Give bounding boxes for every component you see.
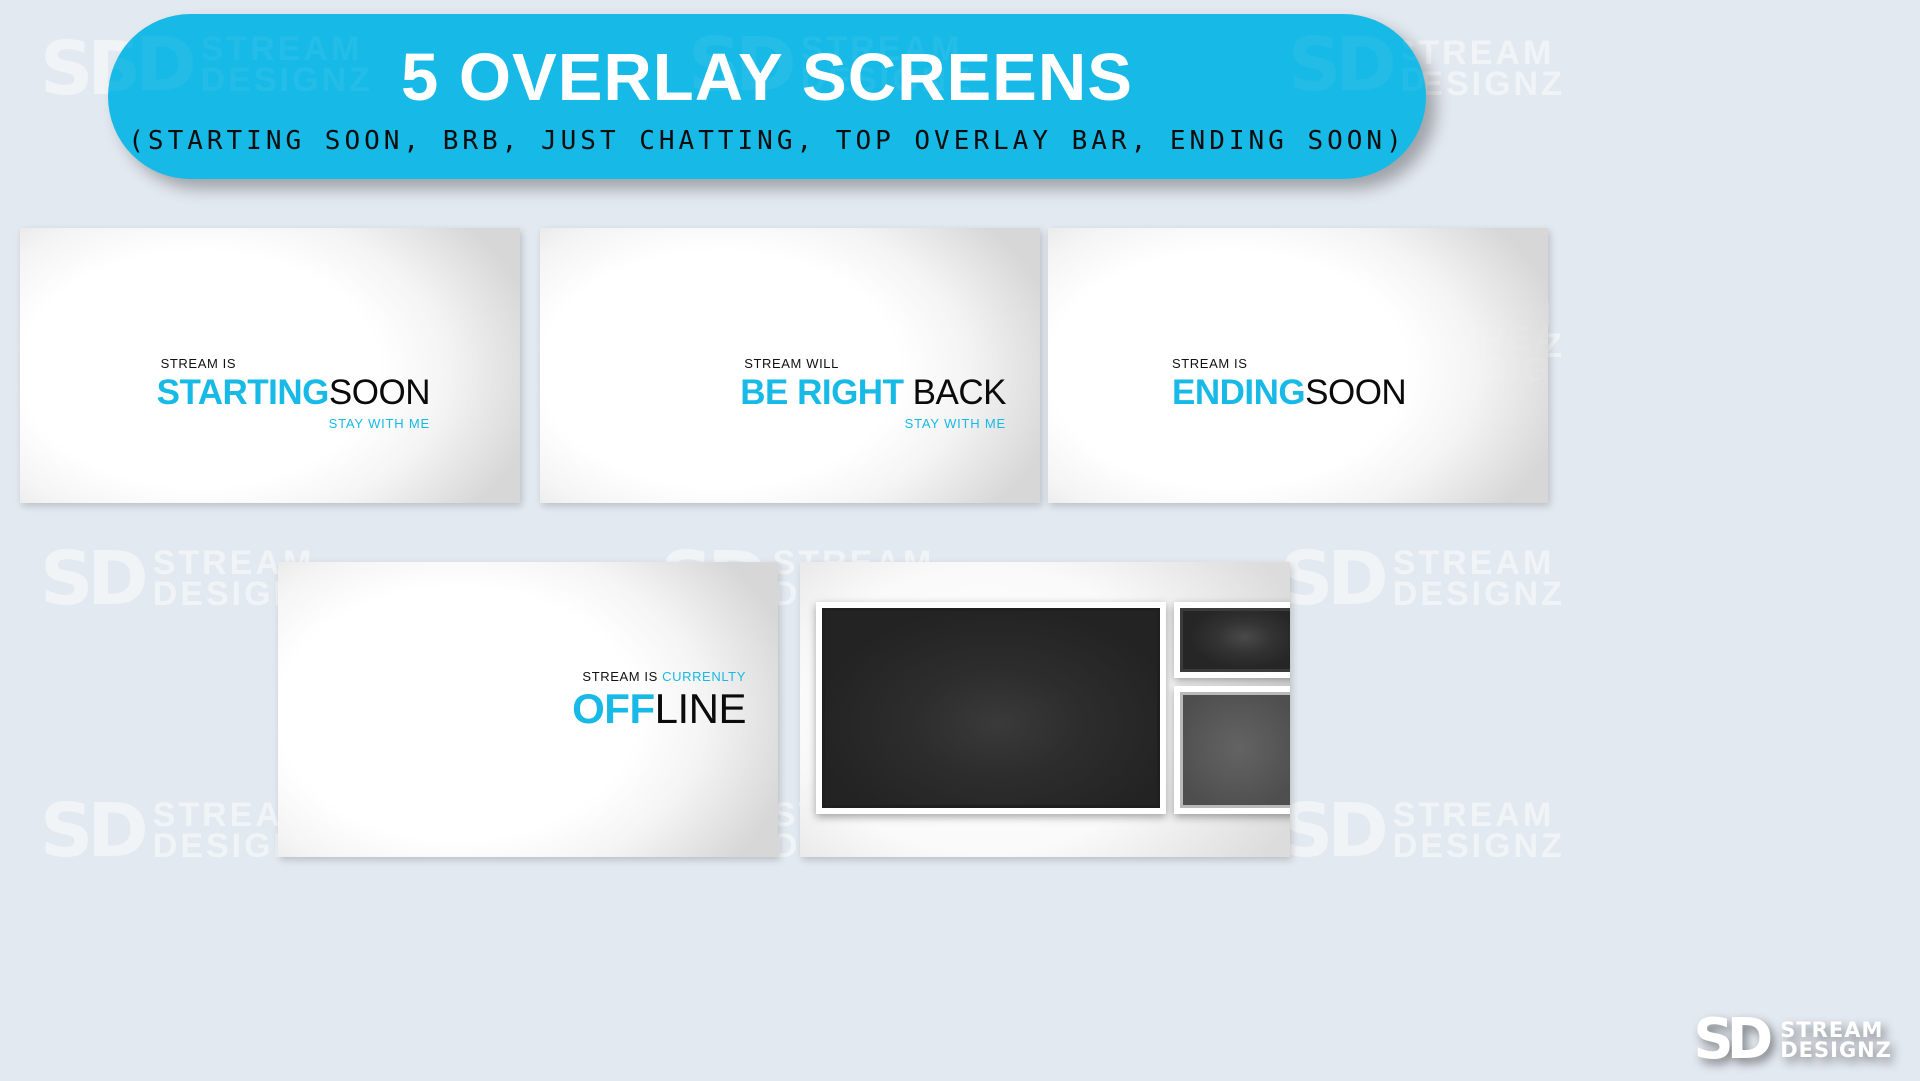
card-headline-accent: OFF: [572, 685, 654, 732]
watermark-line1: STREAM: [1393, 800, 1565, 831]
watermark: SD STREAM DESIGNZ: [1280, 800, 1565, 863]
card-headline-accent: BE RIGHT: [740, 373, 903, 412]
brand-logo: SD STREAM DESIGNZ: [1693, 1018, 1892, 1063]
card-eyebrow-accent: CURRENLTY: [662, 669, 746, 684]
overlay-card-starting-soon[interactable]: SD STREAM DESIGNZ STREAM IS STARTINGSOON…: [20, 228, 520, 503]
overlay-card-offline[interactable]: SD STREAM DESIGNZ STREAM IS CURRENLTY OF…: [278, 562, 778, 857]
card-headline-plain: SOON: [1305, 373, 1406, 412]
watermark-line2: DESIGNZ: [1393, 579, 1565, 610]
brand-line2: DESIGNZ: [1780, 1041, 1892, 1061]
card-headline-plain: BACK: [903, 373, 1006, 412]
card-text-block: STREAM IS STARTINGSOON STAY WITH ME: [157, 357, 430, 430]
overlay-card-top-overlay-bar[interactable]: SD STREAM DESIGNZ: [800, 562, 1290, 857]
card-eyebrow: STREAM WILL: [740, 357, 1006, 370]
watermark-sd-mark: SD: [278, 672, 331, 735]
watermark-sd-mark: SD: [40, 548, 143, 611]
watermark-sd-mark: SD: [1280, 548, 1383, 611]
card-headline: ENDINGSOON: [1172, 375, 1406, 410]
banner-title: 5 OVERLAY SCREENS: [108, 39, 1426, 116]
brand-wordmark: STREAM DESIGNZ: [1780, 1021, 1892, 1061]
card-headline: STARTINGSOON: [157, 375, 430, 410]
card-headline: OFFLINE: [572, 688, 746, 730]
header-banner-body: SD STREAM DESIGNZ SD STREAM DESIGNZ SD S…: [108, 14, 1426, 179]
watermark-line2: DESIGNZ: [341, 703, 513, 734]
watermark-line2: DESIGNZ: [1431, 355, 1548, 386]
card-tagline: STAY WITH ME: [157, 417, 430, 430]
card-headline-accent: STARTING: [157, 373, 329, 412]
watermark-sd-mark: SD: [40, 800, 143, 863]
main-screen-panel[interactable]: [816, 602, 1166, 814]
card-headline-plain: LINE: [655, 685, 746, 732]
watermark: SD STREAM DESIGNZ: [1280, 548, 1565, 611]
main-screen-surface: [822, 608, 1160, 808]
card-eyebrow: STREAM IS: [1172, 357, 1406, 370]
watermark-sd-mark: SD: [1280, 800, 1383, 863]
watermark-sd-mark: SD: [38, 324, 141, 387]
card-headline: BE RIGHT BACK: [740, 375, 1006, 410]
card-eyebrow: STREAM IS: [157, 357, 430, 370]
watermark-line1: STREAM: [1393, 548, 1565, 579]
top-right-camera-panel[interactable]: [1174, 602, 1290, 678]
watermark-line2: DESIGNZ: [1393, 831, 1565, 862]
brand-sd-mark: SD: [1693, 1018, 1766, 1063]
top-right-camera-surface: [1180, 608, 1290, 672]
card-text-block: STREAM WILL BE RIGHT BACK STAY WITH ME: [740, 357, 1006, 430]
bottom-right-info-panel[interactable]: [1174, 686, 1290, 814]
banner-subtitle: (STARTING SOON, BRB, JUST CHATTING, TOP …: [108, 126, 1426, 156]
card-eyebrow-plain: STREAM IS: [582, 669, 662, 684]
card-headline-accent: ENDING: [1172, 373, 1305, 412]
watermark: SD STREAM DESIGNZ: [278, 672, 513, 735]
overlay-card-be-right-back[interactable]: SD STREAM DESIGNZ STREAM WILL BE RIGHT B…: [540, 228, 1040, 503]
header-banner: SD STREAM DESIGNZ SD STREAM DESIGNZ SD S…: [108, 14, 1426, 179]
overlay-card-ending-soon[interactable]: SD STREAM DESIGNZ STREAM IS ENDINGSOON: [1048, 228, 1548, 503]
card-text-block: STREAM IS CURRENLTY OFFLINE: [572, 670, 746, 730]
bottom-right-info-surface: [1180, 692, 1290, 808]
card-tagline: STAY WITH ME: [740, 417, 1006, 430]
watermark-sd-mark: SD: [558, 324, 661, 387]
card-headline-plain: SOON: [329, 373, 430, 412]
card-eyebrow: STREAM IS CURRENLTY: [572, 670, 746, 683]
card-text-block: STREAM IS ENDINGSOON: [1172, 357, 1406, 410]
